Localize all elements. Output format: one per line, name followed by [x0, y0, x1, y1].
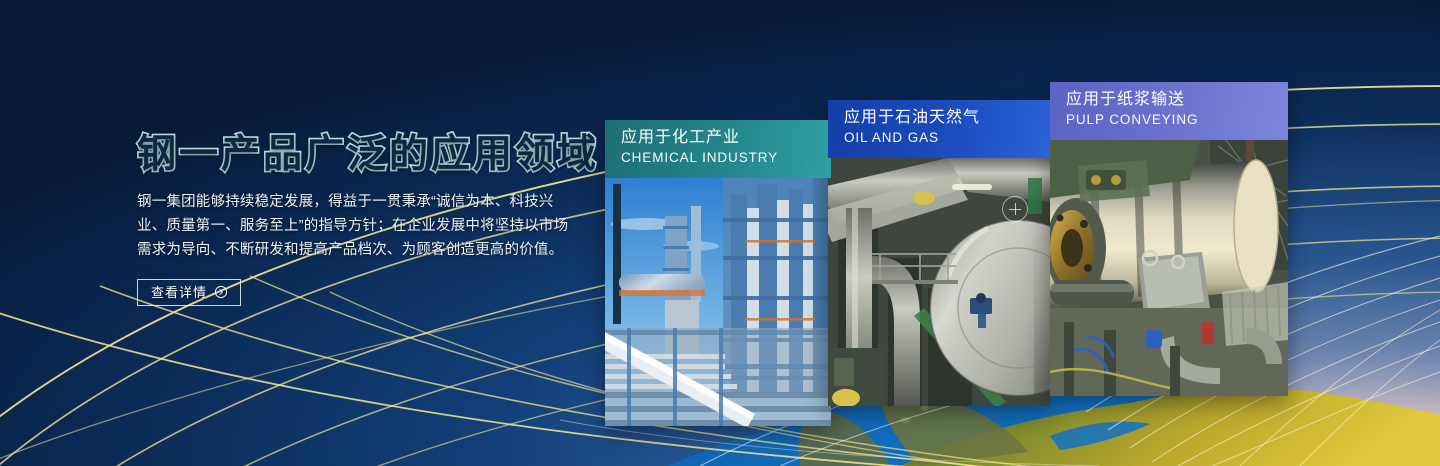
view-details-label: 查看详情 — [151, 286, 207, 299]
pulp-roller-machine-photo — [1050, 140, 1288, 396]
card-title-zh: 应用于化工产业 — [621, 126, 831, 149]
chemical-plant-photo — [605, 178, 831, 426]
card-title-zh: 应用于纸浆输送 — [1066, 88, 1288, 111]
card-title-zh: 应用于石油天然气 — [844, 106, 1050, 129]
card-title-en: CHEMICAL INDUSTRY — [621, 149, 831, 167]
card-header: 应用于化工产业 CHEMICAL INDUSTRY — [605, 120, 831, 178]
card-oil-and-gas[interactable]: 应用于石油天然气 OIL AND GAS — [828, 100, 1050, 406]
card-header: 应用于纸浆输送 PULP CONVEYING — [1050, 82, 1288, 140]
card-chemical-industry[interactable]: 应用于化工产业 CHEMICAL INDUSTRY — [605, 120, 831, 426]
plus-icon[interactable] — [1002, 196, 1028, 222]
circle-arrow-right-icon — [214, 285, 228, 299]
view-details-button[interactable]: 查看详情 — [137, 279, 241, 306]
hero-description: 钢一集团能够持续稳定发展，得益于一贯秉承“诚信为本、科技兴业、质量第一、服务至上… — [137, 190, 582, 262]
card-title-en: OIL AND GAS — [844, 129, 1050, 147]
hero-text-block: 钢一产品广泛的应用领域 钢一集团能够持续稳定发展，得益于一贯秉承“诚信为本、科技… — [137, 134, 607, 306]
card-title-en: PULP CONVEYING — [1066, 111, 1288, 129]
card-pulp-conveying[interactable]: 应用于纸浆输送 PULP CONVEYING — [1050, 82, 1288, 396]
hero-banner: 钢一产品广泛的应用领域 钢一集团能够持续稳定发展，得益于一贯秉承“诚信为本、科技… — [0, 0, 1440, 466]
page-title: 钢一产品广泛的应用领域 — [137, 134, 607, 176]
card-header: 应用于石油天然气 OIL AND GAS — [828, 100, 1050, 158]
